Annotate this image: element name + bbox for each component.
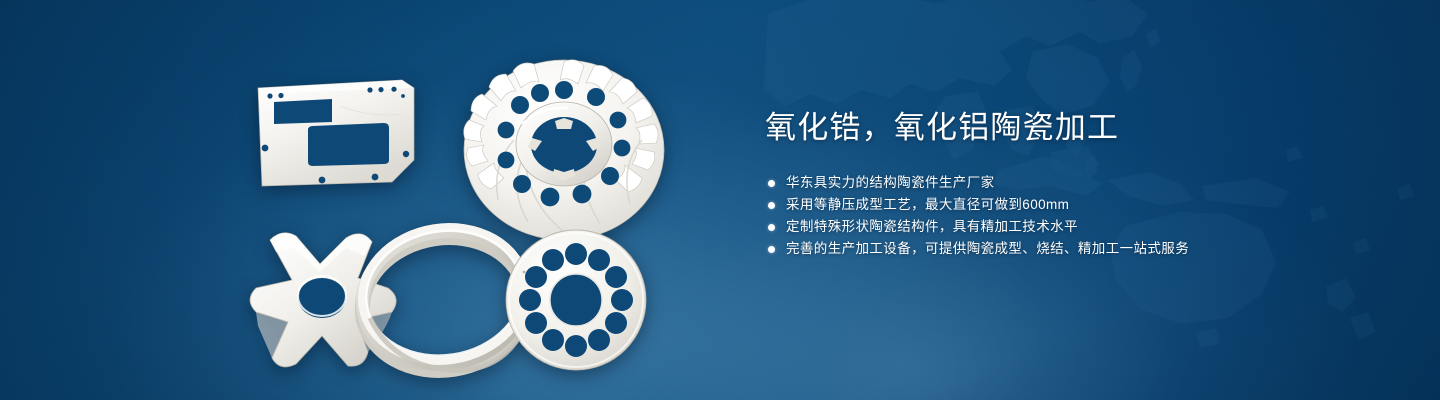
list-item: 采用等静压成型工艺，最大直径可做到600mm <box>765 194 1385 216</box>
feature-text: 完善的生产加工设备，可提供陶瓷成型、烧结、精加工一站式服务 <box>786 238 1189 260</box>
list-item: 完善的生产加工设备，可提供陶瓷成型、烧结、精加工一站式服务 <box>765 238 1385 260</box>
feature-list: 华东具实力的结构陶瓷件生产厂家 采用等静压成型工艺，最大直径可做到600mm 定… <box>765 172 1385 260</box>
ceramic-products-image <box>232 44 672 380</box>
feature-text: 华东具实力的结构陶瓷件生产厂家 <box>786 172 995 194</box>
hero-banner: 氧化锆，氧化铝陶瓷加工 华东具实力的结构陶瓷件生产厂家 采用等静压成型工艺，最大… <box>0 0 1440 400</box>
bullet-dot-icon <box>768 202 775 209</box>
list-item: 华东具实力的结构陶瓷件生产厂家 <box>765 172 1385 194</box>
bullet-dot-icon <box>768 224 775 231</box>
ceramic-impeller <box>464 60 664 240</box>
bullet-dot-icon <box>768 246 775 253</box>
list-item: 定制特殊形状陶瓷结构件，具有精加工技术水平 <box>765 216 1385 238</box>
bullet-dot-icon <box>768 180 775 187</box>
banner-headline: 氧化锆，氧化铝陶瓷加工 <box>765 108 1385 148</box>
banner-text-block: 氧化锆，氧化铝陶瓷加工 华东具实力的结构陶瓷件生产厂家 采用等静压成型工艺，最大… <box>765 108 1385 260</box>
feature-text: 定制特殊形状陶瓷结构件，具有精加工技术水平 <box>786 216 1078 238</box>
ceramic-plate <box>258 80 414 186</box>
feature-text: 采用等静压成型工艺，最大直径可做到600mm <box>786 194 1069 216</box>
ceramic-perforated-disc <box>506 230 646 370</box>
